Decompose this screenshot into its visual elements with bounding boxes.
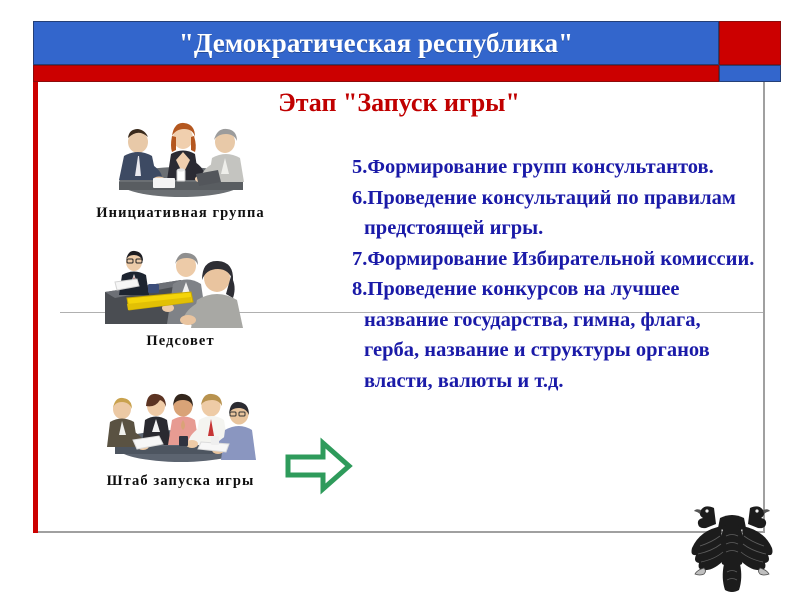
list-item-number: 7.	[352, 248, 367, 270]
slide-canvas: "Демократическая республика" Этап "Запус…	[0, 0, 800, 600]
frame-right-border	[763, 82, 765, 533]
meeting-three-people-clipart	[93, 112, 268, 200]
steps-list: 5.Формирование групп консультантов. 6.Пр…	[352, 152, 757, 396]
group-block-initiative: Инициативная группа	[48, 112, 313, 223]
frame-bottom-border	[38, 531, 765, 533]
header-red-square	[719, 21, 781, 65]
list-item: 5.Формирование групп консультантов.	[352, 152, 757, 183]
frame-left-border	[33, 82, 38, 533]
list-item-text: Формирование Избирательной комиссии.	[367, 248, 754, 270]
meeting-yellow-folder-clipart	[93, 240, 268, 328]
list-item: 7.Формирование Избирательной комиссии.	[352, 244, 757, 275]
list-item-number: 6.	[352, 187, 367, 209]
group-label-initiative: Инициативная группа	[48, 204, 313, 223]
list-item-number: 8.	[352, 278, 367, 300]
group-label-pedsovet: Педсовет	[48, 332, 313, 351]
list-item: 8.Проведение конкурсов на лучшее названи…	[352, 274, 757, 396]
roundtable-five-people-clipart	[93, 380, 268, 468]
double-headed-eagle-icon	[684, 502, 780, 594]
group-label-headquarters: Штаб запуска игры	[48, 472, 313, 491]
group-block-headquarters: Штаб запуска игры	[48, 380, 313, 491]
header-blue-square	[719, 65, 781, 82]
header-banner: "Демократическая республика"	[33, 21, 719, 65]
list-item-number: 5.	[352, 156, 367, 178]
arrow-right-outline-icon	[285, 437, 353, 495]
list-item-text: Формирование групп консультантов.	[367, 156, 713, 178]
page-title: "Демократическая республика"	[179, 28, 573, 59]
group-block-pedsovet: Педсовет	[48, 240, 313, 351]
left-image-column: Инициативная группа	[48, 112, 313, 522]
list-item-text: Проведение консультаций по правилам пред…	[364, 187, 736, 240]
list-item: 6.Проведение консультаций по правилам пр…	[352, 183, 757, 244]
header-red-bar	[33, 65, 719, 82]
list-item-text: Проведение конкурсов на лучшее название …	[364, 278, 710, 392]
